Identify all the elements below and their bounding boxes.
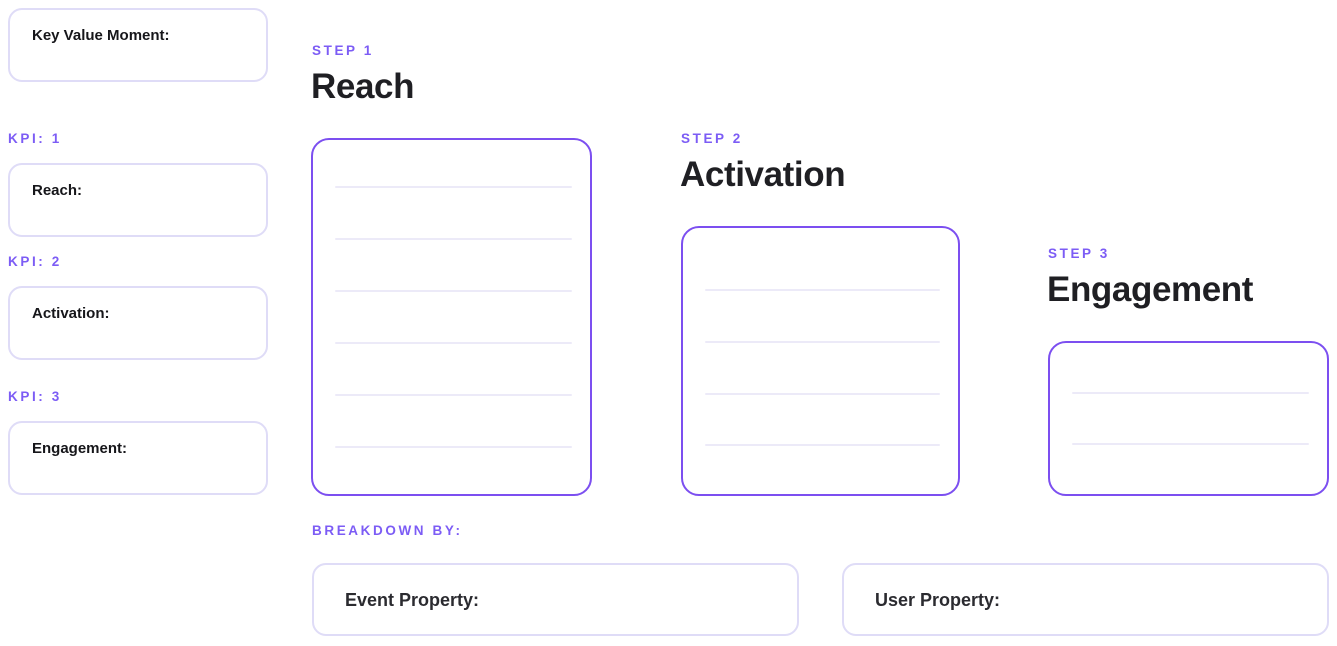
step-2-card[interactable] xyxy=(681,226,960,496)
kpi-3-eyebrow: KPI: 3 xyxy=(8,390,62,404)
step-3-eyebrow: STEP 3 xyxy=(1048,247,1110,261)
user-property-card[interactable]: User Property: xyxy=(842,563,1329,636)
kpi-3-label: Engagement: xyxy=(32,441,127,456)
rule-line xyxy=(335,446,572,448)
rule-line xyxy=(335,186,572,188)
event-property-card[interactable]: Event Property: xyxy=(312,563,799,636)
user-property-label: User Property: xyxy=(875,591,1000,609)
kpi-2-card[interactable]: Activation: xyxy=(8,286,268,360)
step-1-title: Reach xyxy=(311,69,414,104)
event-property-label: Event Property: xyxy=(345,591,479,609)
kpi-1-eyebrow: KPI: 1 xyxy=(8,132,62,146)
breakdown-by-eyebrow: BREAKDOWN BY: xyxy=(312,524,463,538)
rule-line xyxy=(705,289,940,291)
kpi-1-label: Reach: xyxy=(32,183,82,198)
step-2-title: Activation xyxy=(680,157,845,192)
rule-line xyxy=(705,444,940,446)
step-3-card[interactable] xyxy=(1048,341,1329,496)
rule-line xyxy=(335,290,572,292)
kpi-2-label: Activation: xyxy=(32,306,110,321)
step-1-card[interactable] xyxy=(311,138,592,496)
kpi-1-card[interactable]: Reach: xyxy=(8,163,268,237)
rule-line xyxy=(335,394,572,396)
kpi-2-eyebrow: KPI: 2 xyxy=(8,255,62,269)
rule-line xyxy=(335,342,572,344)
key-value-moment-card[interactable]: Key Value Moment: xyxy=(8,8,268,82)
rule-line xyxy=(335,238,572,240)
step-2-eyebrow: STEP 2 xyxy=(681,132,743,146)
rule-line xyxy=(1072,392,1309,394)
step-1-eyebrow: STEP 1 xyxy=(312,44,374,58)
step-3-title: Engagement xyxy=(1047,272,1253,307)
rule-line xyxy=(705,393,940,395)
kpi-3-card[interactable]: Engagement: xyxy=(8,421,268,495)
key-value-moment-label: Key Value Moment: xyxy=(32,28,170,43)
rule-line xyxy=(705,341,940,343)
rule-line xyxy=(1072,443,1309,445)
